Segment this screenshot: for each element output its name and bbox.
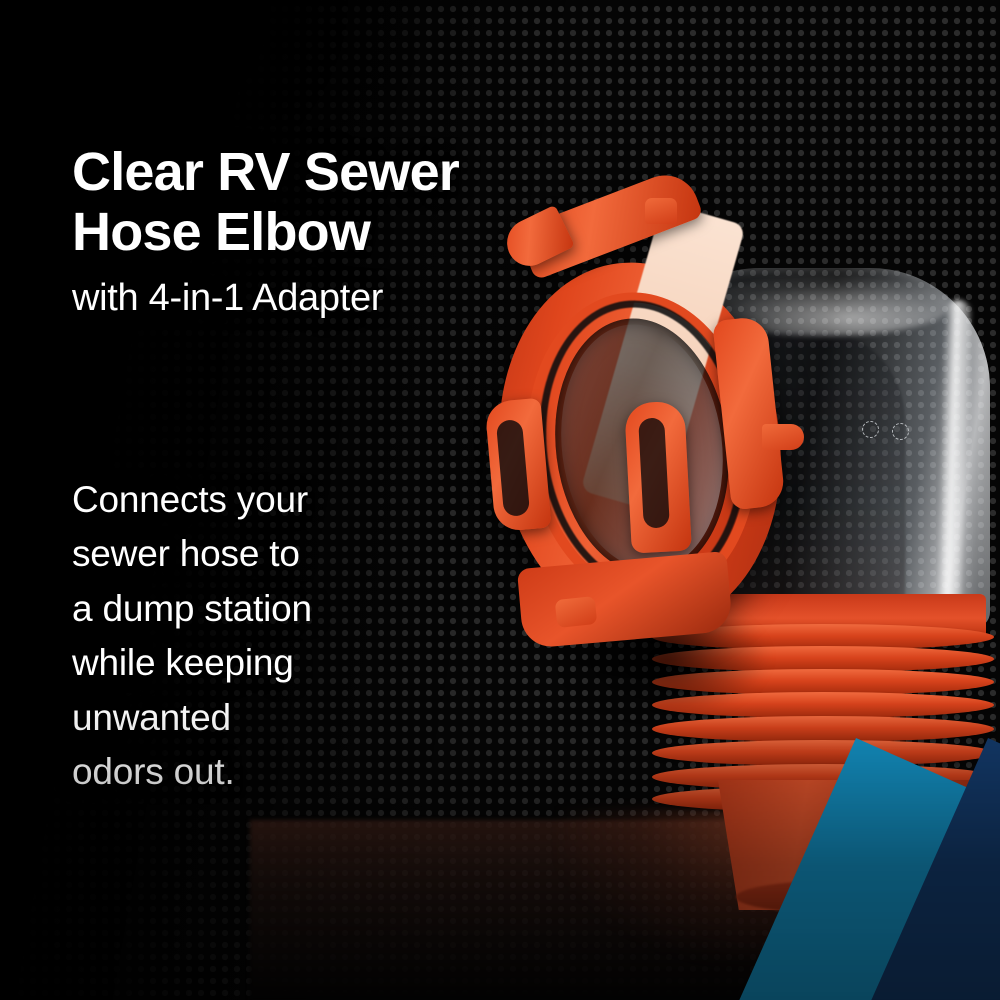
molding-stamp-icon	[892, 423, 909, 440]
ring-nub-top	[645, 198, 677, 224]
ring-nub-right	[762, 424, 804, 450]
molding-stamp-icon	[862, 421, 879, 438]
ring-nub-bottom	[555, 596, 598, 628]
background-bottom-vignette	[0, 700, 1000, 1000]
page-title: Clear RV Sewer Hose Elbow	[72, 142, 459, 263]
page-subtitle: with 4-in-1 Adapter	[72, 277, 383, 320]
product-marketing-graphic: Clear RV Sewer Hose Elbow with 4-in-1 Ad…	[0, 0, 1000, 1000]
